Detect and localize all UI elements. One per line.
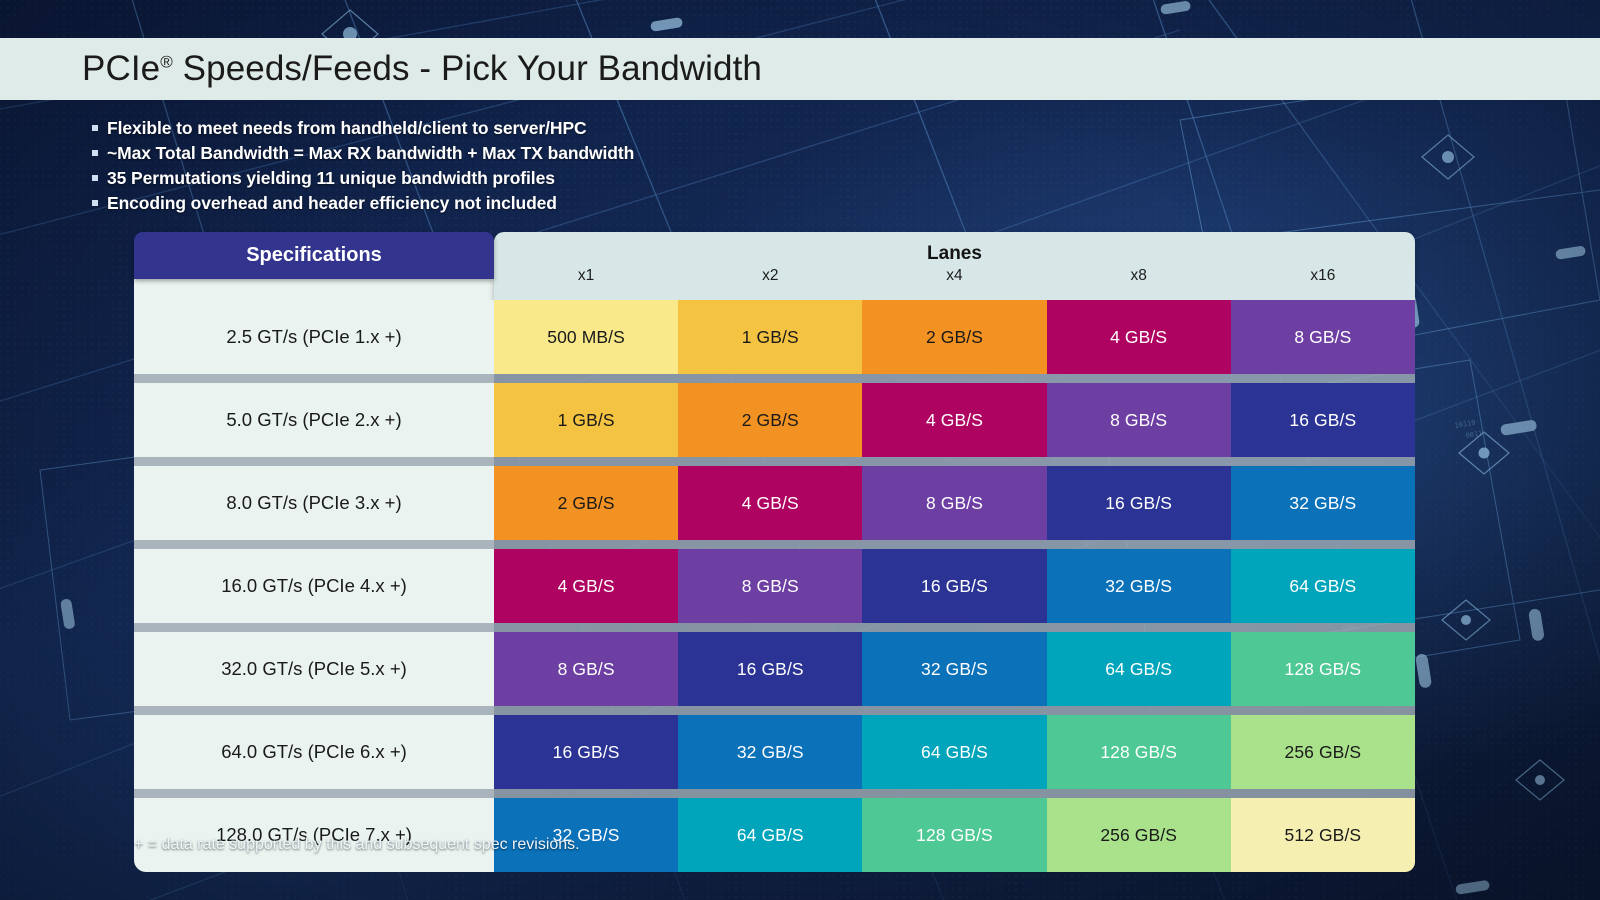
lane-header-x8: x8 [1047,267,1231,285]
row-separator-left [134,540,494,549]
spec-cell: 128.0 GT/s (PCIe 7.x +) [134,798,494,872]
square-bullet-icon [92,150,98,156]
bandwidth-cell: 256 GB/S [1047,798,1231,872]
table-row: 16.0 GT/s (PCIe 4.x +)4 GB/S8 GB/S16 GB/… [134,549,1415,623]
bandwidth-cell: 2 GB/S [494,466,678,540]
list-item: Flexible to meet needs from handheld/cli… [92,116,634,141]
lanes-header-panel: Lanes x1x2x4x8x16 [494,232,1415,300]
bandwidth-cell: 2 GB/S [862,300,1046,374]
bandwidth-cell: 8 GB/S [1231,300,1415,374]
bandwidth-cell: 32 GB/S [1047,549,1231,623]
bandwidth-cell: 500 MB/S [494,300,678,374]
row-separator-right [494,789,1415,798]
bandwidth-cell: 8 GB/S [494,632,678,706]
bandwidth-cell: 2 GB/S [678,383,862,457]
list-item-label: ~Max Total Bandwidth = Max RX bandwidth … [107,141,634,166]
bandwidth-cell: 32 GB/S [678,715,862,789]
bandwidth-cell: 16 GB/S [1047,466,1231,540]
table-row: 8.0 GT/s (PCIe 3.x +)2 GB/S4 GB/S8 GB/S1… [134,466,1415,540]
row-separator-left [134,457,494,466]
bandwidth-cell: 32 GB/S [1231,466,1415,540]
bandwidth-cell: 64 GB/S [862,715,1046,789]
row-separator-left [134,706,494,715]
row-separator [134,457,1415,466]
list-item-label: 35 Permutations yielding 11 unique bandw… [107,166,555,191]
bandwidth-cell: 128 GB/S [1231,632,1415,706]
row-separator [134,623,1415,632]
list-item: 35 Permutations yielding 11 unique bandw… [92,166,634,191]
bandwidth-cell: 16 GB/S [1231,383,1415,457]
row-separator-right [494,706,1415,715]
row-separator-left [134,789,494,798]
row-separator [134,540,1415,549]
table-row: 2.5 GT/s (PCIe 1.x +)500 MB/S1 GB/S2 GB/… [134,300,1415,374]
bandwidth-cell: 8 GB/S [1047,383,1231,457]
bandwidth-cell: 64 GB/S [678,798,862,872]
lane-header-x1: x1 [494,267,678,285]
spec-header-spacer [134,279,494,300]
lane-header-x4: x4 [862,267,1046,285]
square-bullet-icon [92,175,98,181]
bandwidth-cell: 8 GB/S [678,549,862,623]
table-row: 64.0 GT/s (PCIe 6.x +)16 GB/S32 GB/S64 G… [134,715,1415,789]
registered-trademark-icon: ® [160,52,173,71]
spec-cell: 16.0 GT/s (PCIe 4.x +) [134,549,494,623]
table-header-row: Specifications Lanes x1x2x4x8x16 [134,232,1415,300]
bandwidth-table: Specifications Lanes x1x2x4x8x16 2.5 GT/… [134,232,1415,872]
spec-header-tab: Specifications [134,232,494,279]
bandwidth-cell: 16 GB/S [678,632,862,706]
page-title-text-after: Speeds/Feeds - Pick Your Bandwidth [173,49,762,88]
bandwidth-cell: 16 GB/S [494,715,678,789]
row-separator-left [134,374,494,383]
bandwidth-cell: 256 GB/S [1231,715,1415,789]
bullet-list: Flexible to meet needs from handheld/cli… [92,116,634,216]
bandwidth-cell: 64 GB/S [1047,632,1231,706]
row-separator [134,789,1415,798]
table-row: 5.0 GT/s (PCIe 2.x +)1 GB/S2 GB/S4 GB/S8… [134,383,1415,457]
row-separator-right [494,540,1415,549]
bandwidth-cell: 4 GB/S [678,466,862,540]
bandwidth-cell: 4 GB/S [1047,300,1231,374]
spec-cell: 8.0 GT/s (PCIe 3.x +) [134,466,494,540]
bandwidth-cell: 4 GB/S [494,549,678,623]
page-title: PCIe® Speeds/Feeds - Pick Your Bandwidth [82,49,762,89]
square-bullet-icon [92,200,98,206]
lane-header-x16: x16 [1231,267,1415,285]
bandwidth-cell: 16 GB/S [862,549,1046,623]
bandwidth-cell: 512 GB/S [1231,798,1415,872]
spec-header-column: Specifications [134,232,494,300]
spec-cell: 5.0 GT/s (PCIe 2.x +) [134,383,494,457]
bandwidth-cell: 8 GB/S [862,466,1046,540]
row-separator-right [494,457,1415,466]
bandwidth-cell: 1 GB/S [678,300,862,374]
spec-cell: 64.0 GT/s (PCIe 6.x +) [134,715,494,789]
bandwidth-cell: 4 GB/S [862,383,1046,457]
table-body: 2.5 GT/s (PCIe 1.x +)500 MB/S1 GB/S2 GB/… [134,300,1415,872]
table-row: 128.0 GT/s (PCIe 7.x +)32 GB/S64 GB/S128… [134,798,1415,872]
bandwidth-cell: 1 GB/S [494,383,678,457]
bandwidth-cell: 32 GB/S [494,798,678,872]
row-separator [134,706,1415,715]
page-title-text-before: PCIe [82,49,160,88]
title-band: PCIe® Speeds/Feeds - Pick Your Bandwidth [0,38,1600,100]
lane-label-row: x1x2x4x8x16 [494,267,1415,293]
list-item-label: Encoding overhead and header efficiency … [107,191,557,216]
table-row: 32.0 GT/s (PCIe 5.x +)8 GB/S16 GB/S32 GB… [134,632,1415,706]
bandwidth-cell: 128 GB/S [1047,715,1231,789]
bandwidth-cell: 128 GB/S [862,798,1046,872]
lane-header-x2: x2 [678,267,862,285]
bandwidth-cell: 32 GB/S [862,632,1046,706]
spec-cell: 2.5 GT/s (PCIe 1.x +) [134,300,494,374]
bandwidth-cell: 64 GB/S [1231,549,1415,623]
lanes-header-label: Lanes [494,232,1415,267]
spec-cell: 32.0 GT/s (PCIe 5.x +) [134,632,494,706]
list-item: Encoding overhead and header efficiency … [92,191,634,216]
row-separator-right [494,623,1415,632]
row-separator-right [494,374,1415,383]
footnote: + = data rate supported by this and subs… [134,836,580,854]
list-item: ~Max Total Bandwidth = Max RX bandwidth … [92,141,634,166]
row-separator [134,374,1415,383]
list-item-label: Flexible to meet needs from handheld/cli… [107,116,587,141]
square-bullet-icon [92,125,98,131]
row-separator-left [134,623,494,632]
